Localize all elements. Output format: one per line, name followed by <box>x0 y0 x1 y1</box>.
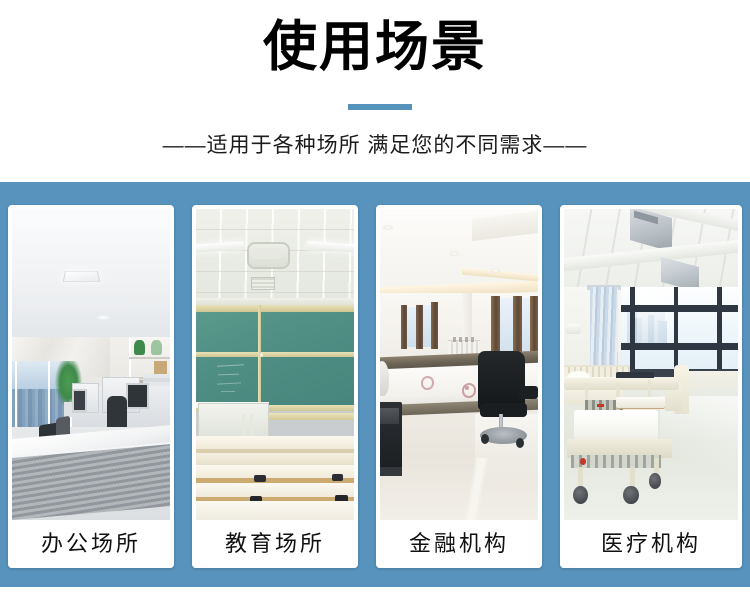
ward-bed-rail-post-1 <box>585 383 588 402</box>
office-plant-pot <box>64 402 72 418</box>
classroom-podium-line-1 <box>242 414 245 436</box>
scenario-photo-finance <box>380 209 538 520</box>
bank-downlight-3 <box>491 268 500 273</box>
bank-curtain-2 <box>416 305 422 349</box>
ward-window-mullion-v2 <box>674 287 679 374</box>
classroom-desk-row-4 <box>196 501 354 520</box>
bank-curtain-1 <box>401 305 407 349</box>
office-window-frame-left <box>15 361 17 429</box>
office-shelf-plant-2 <box>151 340 162 356</box>
page-title: 使用场景 <box>0 14 750 80</box>
office-monitor-2 <box>72 389 87 412</box>
scenario-label-medical: 医疗机构 <box>560 520 742 568</box>
scenario-card-education[interactable]: 教育场所 <box>192 205 358 568</box>
bank-atm-base <box>380 467 402 476</box>
ward-bed-tray-table <box>616 397 665 408</box>
scenario-photo-education <box>196 209 354 520</box>
bank-window-4 <box>522 298 530 354</box>
classroom-desk-clip-2 <box>332 474 343 481</box>
scenario-card-finance[interactable]: 金融机构 <box>376 205 542 568</box>
ward-bed-caster-2 <box>623 486 639 505</box>
classroom-podium <box>198 403 270 439</box>
classroom-ceiling-vent <box>251 277 275 290</box>
classroom-board-frame-top <box>196 305 354 312</box>
bank-downlight-1 <box>383 225 392 230</box>
classroom-board-frame-middle <box>196 352 354 357</box>
scenario-label-office: 办公场所 <box>8 520 174 568</box>
scenario-label-education: 教育场所 <box>192 520 358 568</box>
ward-window-mullion-h2 <box>621 343 738 350</box>
scenario-photo-office <box>12 209 170 520</box>
classroom-desk-row-3-top <box>196 483 354 499</box>
page-header: 使用场景 ——适用于各种场所 满足您的不同需求—— <box>0 0 750 182</box>
bank-floor-seam <box>431 458 526 520</box>
scenario-card-medical[interactable]: 医疗机构 <box>560 205 742 568</box>
office-panel-light <box>63 271 101 282</box>
bank-curtain-6 <box>530 296 538 355</box>
classroom-chalk-rail <box>267 413 354 420</box>
ward-bed-release-knob <box>580 458 586 465</box>
ward-window-mullion-v3 <box>717 287 722 374</box>
office-shelf-plant-1 <box>134 340 145 356</box>
bank-window-1 <box>407 307 416 347</box>
office-shelf-line-1 <box>129 357 170 359</box>
bank-curtain-4 <box>491 296 500 355</box>
ward-window-mullion-h1 <box>621 305 738 311</box>
classroom-podium-line-2 <box>250 414 253 436</box>
ward-wall-lamp <box>566 324 582 334</box>
office-window-frame-right <box>48 361 50 429</box>
scenario-label-finance: 金融机构 <box>376 520 542 568</box>
bank-window-2 <box>423 305 431 347</box>
ward-window-mullion-v1 <box>630 287 635 374</box>
page-subtitle: ——适用于各种场所 满足您的不同需求—— <box>0 131 750 161</box>
ward-bed-rail-post-3 <box>648 380 651 399</box>
bank-curtain-5 <box>513 296 522 355</box>
title-underline-rule <box>348 104 412 110</box>
classroom-board-frame-vertical <box>258 305 262 411</box>
ward-bed-side-rail <box>564 378 679 389</box>
ward-window-glare <box>637 290 675 343</box>
ward-privacy-curtain <box>590 287 618 374</box>
scenario-band: 办公场所 <box>0 182 750 587</box>
bank-counter-signage <box>453 337 477 343</box>
classroom-ac-inner-panel <box>251 248 281 259</box>
bank-curtain-3 <box>431 302 438 349</box>
scenario-photo-medical <box>564 209 738 520</box>
bank-office-chair-arm <box>519 386 538 398</box>
office-monitor-1 <box>126 383 149 409</box>
bank-office-chair-caster-2 <box>516 438 524 448</box>
classroom-chalkboard <box>196 307 354 410</box>
bank-downlight-2 <box>450 251 459 256</box>
scenario-card-office[interactable]: 办公场所 <box>8 205 174 568</box>
classroom-desk-clip-1 <box>254 475 265 482</box>
bank-office-chair-back <box>478 351 525 410</box>
ward-bed-mechanism-indicator <box>597 404 604 408</box>
bank-atm-panel <box>380 408 399 424</box>
classroom-desk-row-1-front <box>196 453 354 465</box>
bank-window-3 <box>500 298 513 354</box>
classroom-chalk-mark-4 <box>221 391 235 392</box>
